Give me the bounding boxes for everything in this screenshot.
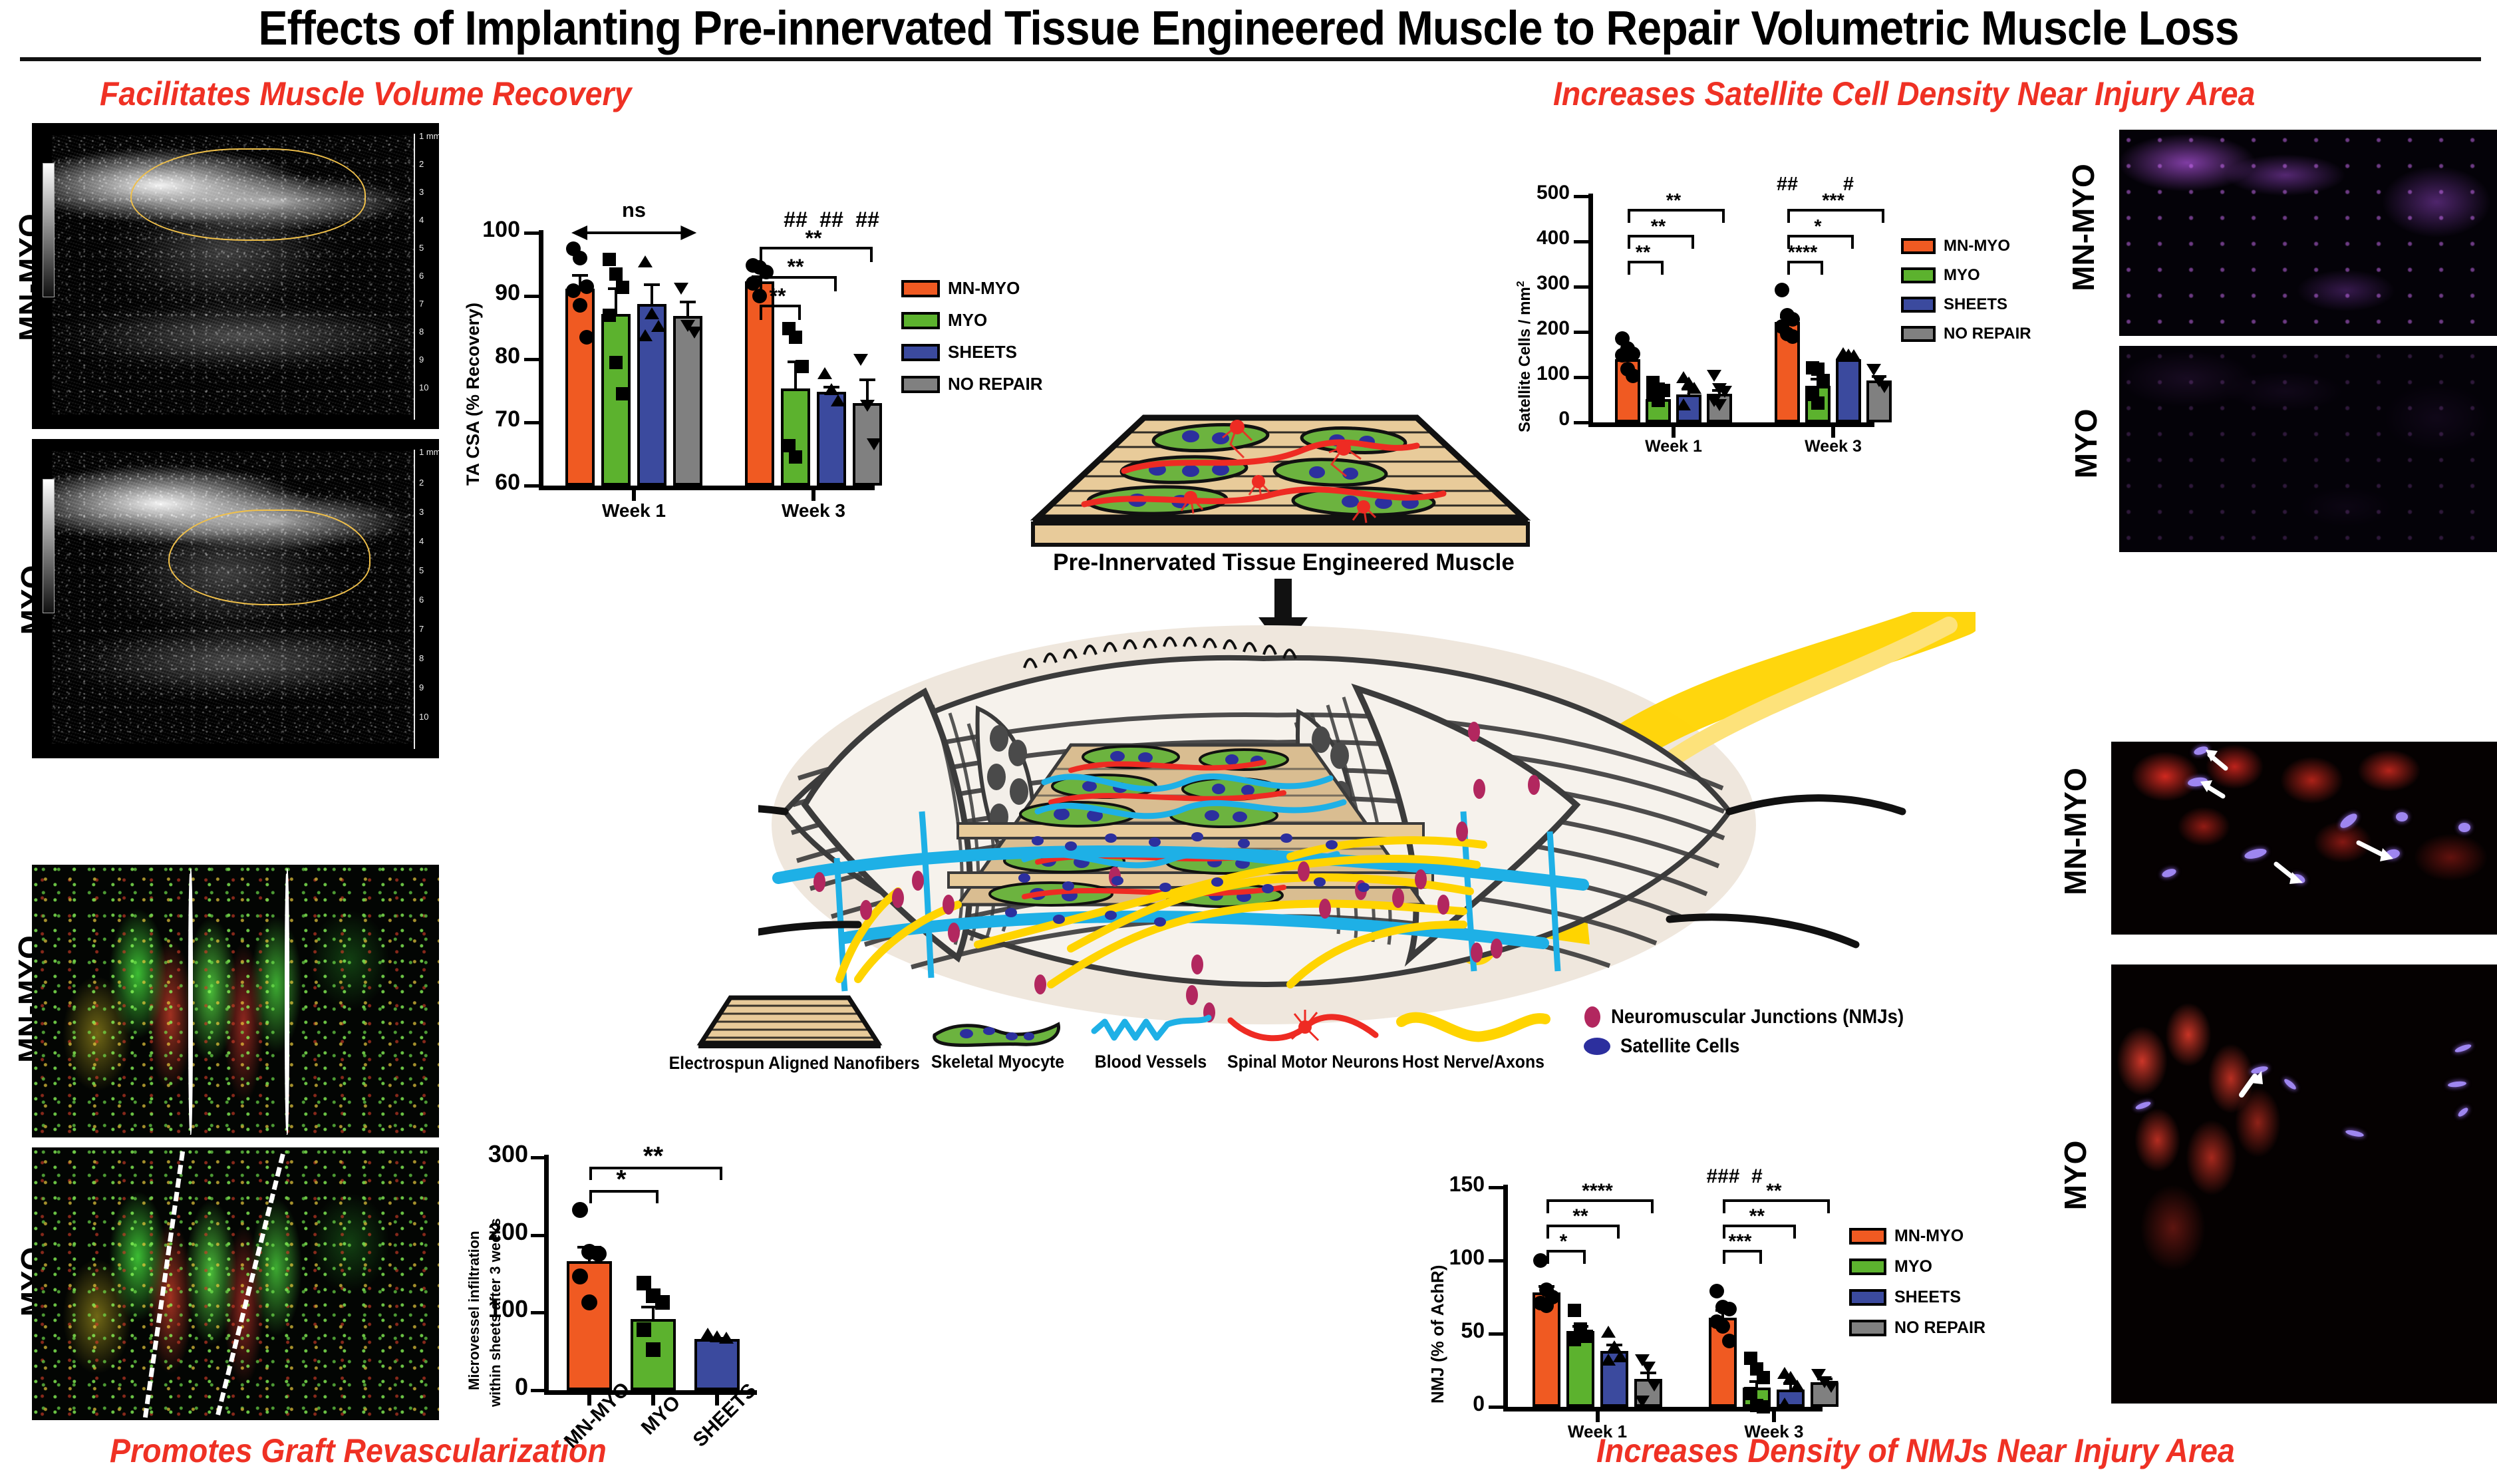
y-tick: [524, 231, 539, 235]
x-tick: [715, 1395, 719, 1406]
error-cap: [859, 378, 876, 381]
legend-item-host-nerve: Host Nerve/Axons: [1390, 1008, 1556, 1072]
data-point: [591, 1246, 607, 1262]
nmj-image-myo: [2111, 965, 2497, 1404]
significance-label: ****: [1551, 1180, 1644, 1203]
y-axis-line: [539, 230, 543, 486]
y-tick: [1489, 1186, 1503, 1189]
y-tick-label: 60: [439, 470, 520, 496]
legend-label-sheets: SHEETS: [1944, 295, 2007, 314]
x-tick: [1596, 1411, 1600, 1422]
data-point: [646, 1342, 661, 1357]
nmj-label-myo: MYO: [2057, 1109, 2093, 1242]
y-tick: [1574, 195, 1588, 198]
y-tick: [524, 421, 539, 424]
legend-swatch-mn-myo: [1901, 238, 1936, 254]
revasc-panel-mn-myo: MN-MYO: [0, 865, 439, 1137]
legend-label-nmj: Neuromuscular Junctions (NMJs): [1611, 1006, 1904, 1028]
y-tick: [531, 1156, 544, 1159]
ns-label: ns: [594, 198, 674, 222]
nmj-image-mn-myo: [2111, 742, 2497, 935]
data-point: [1811, 396, 1825, 410]
legend-row-myo: MYO: [901, 310, 987, 331]
y-axis-line: [544, 1155, 549, 1390]
legend-item-motor-neurons: Spinal Motor Neurons: [1221, 1008, 1387, 1072]
nanofiber-scaffold-icon: [678, 991, 898, 1048]
data-point: [1722, 1334, 1737, 1348]
legend-row-no-repair: NO REPAIR: [901, 374, 1043, 394]
data-point: [789, 450, 802, 464]
data-point: [1846, 349, 1861, 361]
data-point: [860, 400, 875, 412]
y-tick-label: 0: [1403, 1392, 1485, 1416]
page-title: Effects of Implanting Pre-innervated Tis…: [258, 1, 2238, 56]
data-point: [1568, 1304, 1581, 1317]
nmj-icon: [1583, 1006, 1602, 1028]
y-tick-label: 100: [451, 1295, 528, 1323]
legend-item-nanofibers: Electrospun Aligned Nanofibers: [659, 991, 918, 1074]
data-point: [1775, 283, 1789, 297]
y-tick-label: 100: [439, 217, 520, 243]
hash-significance-label: #: [1717, 1165, 1797, 1188]
diagram-legend: Electrospun Aligned Nanofibers Skeletal …: [659, 991, 2029, 1091]
data-point: [645, 307, 659, 319]
legend-row-no-repair: NO REPAIR: [1901, 325, 2031, 343]
motor-neuron-icon: [1225, 1008, 1382, 1047]
y-tick-label: 80: [439, 343, 520, 369]
chart-nmj: NMJ (% of AchR) 050100150Week 1Week 3***…: [1423, 1124, 2009, 1443]
bar-myo: [781, 388, 810, 486]
data-point: [1707, 370, 1721, 382]
y-tick-label: 500: [1489, 182, 1570, 204]
data-point: [651, 320, 666, 332]
heading-satellite-cell-density: Increases Satellite Cell Density Near In…: [1553, 74, 2255, 113]
significance-label: **: [613, 1142, 693, 1171]
y-tick-label: 200: [1489, 317, 1570, 340]
satellite-cell-icon: [1583, 1036, 1611, 1056]
scaffold-caption: Pre-Innervated Tissue Engineered Muscle: [991, 549, 1576, 576]
legend-label-host-nerve: Host Nerve/Axons: [1397, 1052, 1550, 1072]
data-point: [572, 1268, 588, 1284]
y-tick: [531, 1234, 544, 1237]
revasc-image-myo: [32, 1147, 439, 1420]
y-tick-label: 0: [451, 1373, 528, 1401]
data-point: [572, 1202, 588, 1218]
data-point: [719, 1332, 734, 1344]
data-point: [1866, 364, 1881, 376]
legend-item-myocyte: Skeletal Myocyte: [925, 1014, 1071, 1072]
muscle-diagram: [758, 612, 1976, 1024]
data-point: [1615, 348, 1630, 363]
chart-microvessel: Microvessel infiltration within sheets a…: [459, 1104, 792, 1477]
y-tick: [1489, 1259, 1503, 1262]
y-tick: [531, 1311, 544, 1314]
blood-vessel-icon: [1088, 1014, 1214, 1047]
data-point: [853, 354, 868, 366]
data-point: [789, 331, 802, 344]
chart-ta-csa: TA CSA (% Recovery) 60708090100Week 1Wee…: [459, 153, 898, 532]
data-point: [1722, 1302, 1737, 1316]
legend-item-nmj: Neuromuscular Junctions (NMJs): [1583, 1006, 1929, 1028]
y-tick-label: 50: [1403, 1318, 1485, 1343]
legend-label-motor-neurons: Spinal Motor Neurons: [1227, 1052, 1380, 1072]
legend-label-no-repair: NO REPAIR: [1894, 1318, 1985, 1338]
y-tick: [1574, 376, 1588, 379]
legend-row-sheets: SHEETS: [901, 342, 1017, 363]
x-tick: [811, 490, 815, 501]
title-underline: [20, 57, 2481, 61]
bar-no-repair: [673, 316, 702, 486]
data-point: [1824, 1381, 1838, 1393]
y-tick: [1574, 240, 1588, 243]
data-point: [824, 383, 839, 395]
x-axis-line: [539, 486, 875, 490]
error-cap: [680, 301, 696, 303]
data-point: [616, 387, 629, 400]
legend-label-satellite-cells: Satellite Cells: [1620, 1035, 1739, 1058]
data-point: [1785, 329, 1800, 344]
y-axis-line: [1503, 1185, 1508, 1407]
x-tick: [1672, 427, 1676, 438]
y-tick-label: 300: [1489, 272, 1570, 295]
data-point: [638, 255, 653, 267]
data-point: [1601, 1326, 1616, 1338]
bar-mn-myo: [565, 289, 595, 486]
y-tick: [524, 358, 539, 361]
legend-swatch-sheets: [1901, 297, 1936, 313]
legend-row-mn-myo: MN-MYO: [901, 278, 1020, 299]
host-nerve-icon: [1395, 1008, 1552, 1047]
legend-row-no-repair: NO REPAIR: [1849, 1318, 1985, 1338]
legend-swatch-no-repair: [1901, 326, 1936, 342]
data-point: [687, 327, 702, 339]
legend-swatch-mn-myo: [1849, 1228, 1886, 1245]
myocyte-icon: [928, 1014, 1068, 1047]
x-axis-label: Week 3: [732, 500, 895, 521]
significance-label: **: [1627, 190, 1720, 212]
nmj-panel-mn-myo: MN-MYO: [2049, 742, 2497, 935]
satellite-panel-myo: MYO: [2055, 346, 2497, 552]
y-tick: [1489, 1406, 1503, 1409]
legend-row-mn-myo: MN-MYO: [1849, 1227, 1964, 1246]
legend-label-myo: MYO: [1894, 1257, 1932, 1276]
y-tick-label: 100: [1489, 363, 1570, 385]
data-point: [609, 356, 623, 369]
legend-label-sheets: SHEETS: [1894, 1288, 1961, 1307]
y-tick-label: 100: [1403, 1245, 1485, 1270]
hash-significance-label: ##: [827, 208, 907, 232]
x-axis-line: [1503, 1407, 1823, 1411]
data-point: [1641, 1362, 1656, 1374]
legend-label-nanofibers: Electrospun Aligned Nanofibers: [669, 1053, 908, 1074]
revasc-image-mn-myo: [32, 865, 439, 1137]
data-point: [616, 281, 629, 294]
data-point: [1757, 1371, 1770, 1384]
legend-swatch-sheets: [1849, 1289, 1886, 1306]
data-point: [1601, 1354, 1616, 1366]
figure-title-bar: Effects of Implanting Pre-innervated Tis…: [0, 0, 2497, 61]
legend-swatch-myo: [901, 312, 940, 329]
legend-item-blood-vessels: Blood Vessels: [1084, 1014, 1217, 1072]
hash-significance-label: #: [1809, 174, 1888, 196]
legend-swatch-myo: [1901, 267, 1936, 283]
error-cap: [572, 274, 589, 277]
ultrasound-image-mn-myo: 1 mm23 456 789 10: [32, 123, 439, 429]
data-point: [1687, 382, 1701, 394]
legend-label-blood-vessels: Blood Vessels: [1090, 1052, 1212, 1072]
data-point: [1652, 394, 1665, 407]
data-point: [1817, 374, 1830, 387]
y-tick-label: 70: [439, 406, 520, 432]
data-point: [581, 1294, 597, 1310]
y-tick: [524, 484, 539, 488]
data-point: [579, 279, 594, 294]
satellite-label-myo: MYO: [2068, 377, 2104, 510]
legend-swatch-no-repair: [901, 376, 940, 393]
data-point: [1777, 1398, 1792, 1410]
data-point: [1790, 1380, 1805, 1392]
satellite-image-mn-myo: [2119, 130, 2497, 336]
legend-label-no-repair: NO REPAIR: [1944, 325, 2031, 343]
x-tick: [651, 1395, 655, 1406]
chart-satellite-cells: Satellite Cells / mm2 0100200300400500We…: [1510, 133, 2035, 466]
legend-row-myo: MYO: [1849, 1257, 1932, 1276]
y-tick-label: 400: [1489, 227, 1570, 249]
ta-csa-y-axis-label: TA CSA (% Recovery): [463, 303, 484, 486]
legend-row-sheets: SHEETS: [1849, 1288, 1961, 1307]
data-point: [1533, 1253, 1548, 1268]
data-point: [1877, 381, 1892, 393]
data-point: [1709, 1284, 1724, 1298]
legend-swatch-sheets: [901, 344, 940, 361]
error-bar: [651, 283, 653, 304]
nmj-panel-myo: MYO: [2049, 965, 2497, 1404]
data-point: [1568, 1333, 1581, 1346]
y-tick: [1574, 285, 1588, 289]
legend-row-sheets: SHEETS: [1901, 295, 2007, 314]
legend-label-myocyte: Skeletal Myocyte: [931, 1052, 1065, 1072]
y-tick-label: 200: [451, 1218, 528, 1246]
legend-row-mn-myo: MN-MYO: [1901, 237, 2010, 255]
arrow-markers-icon: [2111, 742, 2497, 935]
ultrasound-panel-myo: MYO 1 mm23 456 789 10: [0, 439, 439, 758]
data-point: [603, 253, 616, 266]
satellite-image-myo: [2119, 346, 2497, 552]
data-point: [674, 283, 688, 295]
legend-label-mn-myo: MN-MYO: [1944, 237, 2010, 255]
y-tick: [1489, 1332, 1503, 1336]
x-axis-label: Week 1: [552, 500, 716, 521]
heading-muscle-volume-recovery: Facilitates Muscle Volume Recovery: [100, 74, 631, 113]
data-point: [1676, 398, 1691, 410]
y-tick: [524, 295, 539, 298]
muscle-diagram-graphic-icon: [758, 612, 1976, 1024]
data-point: [1635, 1396, 1650, 1408]
data-point: [1647, 1380, 1662, 1392]
ns-double-arrow-icon: [571, 222, 696, 244]
data-point: [796, 360, 809, 373]
error-cap: [644, 283, 661, 286]
legend-swatch-no-repair: [1849, 1320, 1886, 1336]
data-point: [1757, 1400, 1770, 1413]
satellite-panel-mn-myo: MN-MYO: [2055, 130, 2497, 336]
x-tick: [1831, 427, 1835, 438]
x-tick: [1772, 1411, 1776, 1422]
x-tick: [632, 490, 636, 501]
y-tick-label: 150: [1403, 1172, 1485, 1197]
x-axis-line: [1588, 422, 1874, 427]
x-axis-label: Week 1: [1602, 437, 1745, 456]
x-axis-label: Week 3: [1761, 437, 1905, 456]
y-tick-label: 300: [451, 1140, 528, 1168]
data-point: [579, 330, 594, 345]
legend-label-no-repair: NO REPAIR: [948, 374, 1043, 394]
legend-label-mn-myo: MN-MYO: [948, 278, 1020, 299]
nmj-label-mn-myo: MN-MYO: [2057, 765, 2093, 898]
legend-swatch-mn-myo: [901, 280, 940, 297]
data-point: [637, 1322, 651, 1337]
legend-swatch-myo: [1849, 1259, 1886, 1275]
legend-label-sheets: SHEETS: [948, 342, 1017, 363]
data-point: [831, 394, 845, 406]
scaffold-diagram: Pre-Innervated Tissue Engineered Muscle: [991, 411, 1576, 611]
y-tick: [1574, 331, 1588, 334]
ultrasound-panel-mn-myo: MN-MYO 1 mm23 456 789 10: [0, 123, 439, 429]
data-point: [1712, 399, 1727, 411]
legend-label-mn-myo: MN-MYO: [1894, 1227, 1964, 1246]
bar-sheets: [694, 1339, 740, 1390]
x-axis-line: [544, 1390, 757, 1395]
x-tick: [587, 1395, 591, 1406]
data-point: [867, 438, 881, 450]
ultrasound-image-myo: 1 mm23 456 789 10: [32, 439, 439, 758]
data-point: [655, 1295, 670, 1310]
y-tick: [531, 1389, 544, 1392]
y-tick-label: 90: [439, 280, 520, 306]
legend-item-satellite-cells: Satellite Cells: [1583, 1035, 1750, 1058]
satellite-label-mn-myo: MN-MYO: [2065, 161, 2101, 294]
data-point: [603, 309, 616, 322]
data-point: [1580, 1330, 1593, 1343]
bar-sheets: [1836, 359, 1861, 422]
y-axis-line: [1588, 194, 1593, 422]
arrow-marker-icon: [2111, 965, 2497, 1404]
data-point: [638, 329, 653, 341]
legend-label-myo: MYO: [1944, 266, 1980, 285]
x-axis-label: Week 3: [1695, 1421, 1852, 1442]
data-point: [609, 267, 623, 281]
data-point: [573, 251, 587, 265]
x-axis-label: Week 1: [1519, 1421, 1676, 1442]
legend-row-myo: MYO: [1901, 266, 1980, 285]
legend-label-myo: MYO: [948, 310, 987, 331]
data-point: [817, 367, 832, 379]
revasc-panel-myo: MYO: [0, 1147, 439, 1420]
